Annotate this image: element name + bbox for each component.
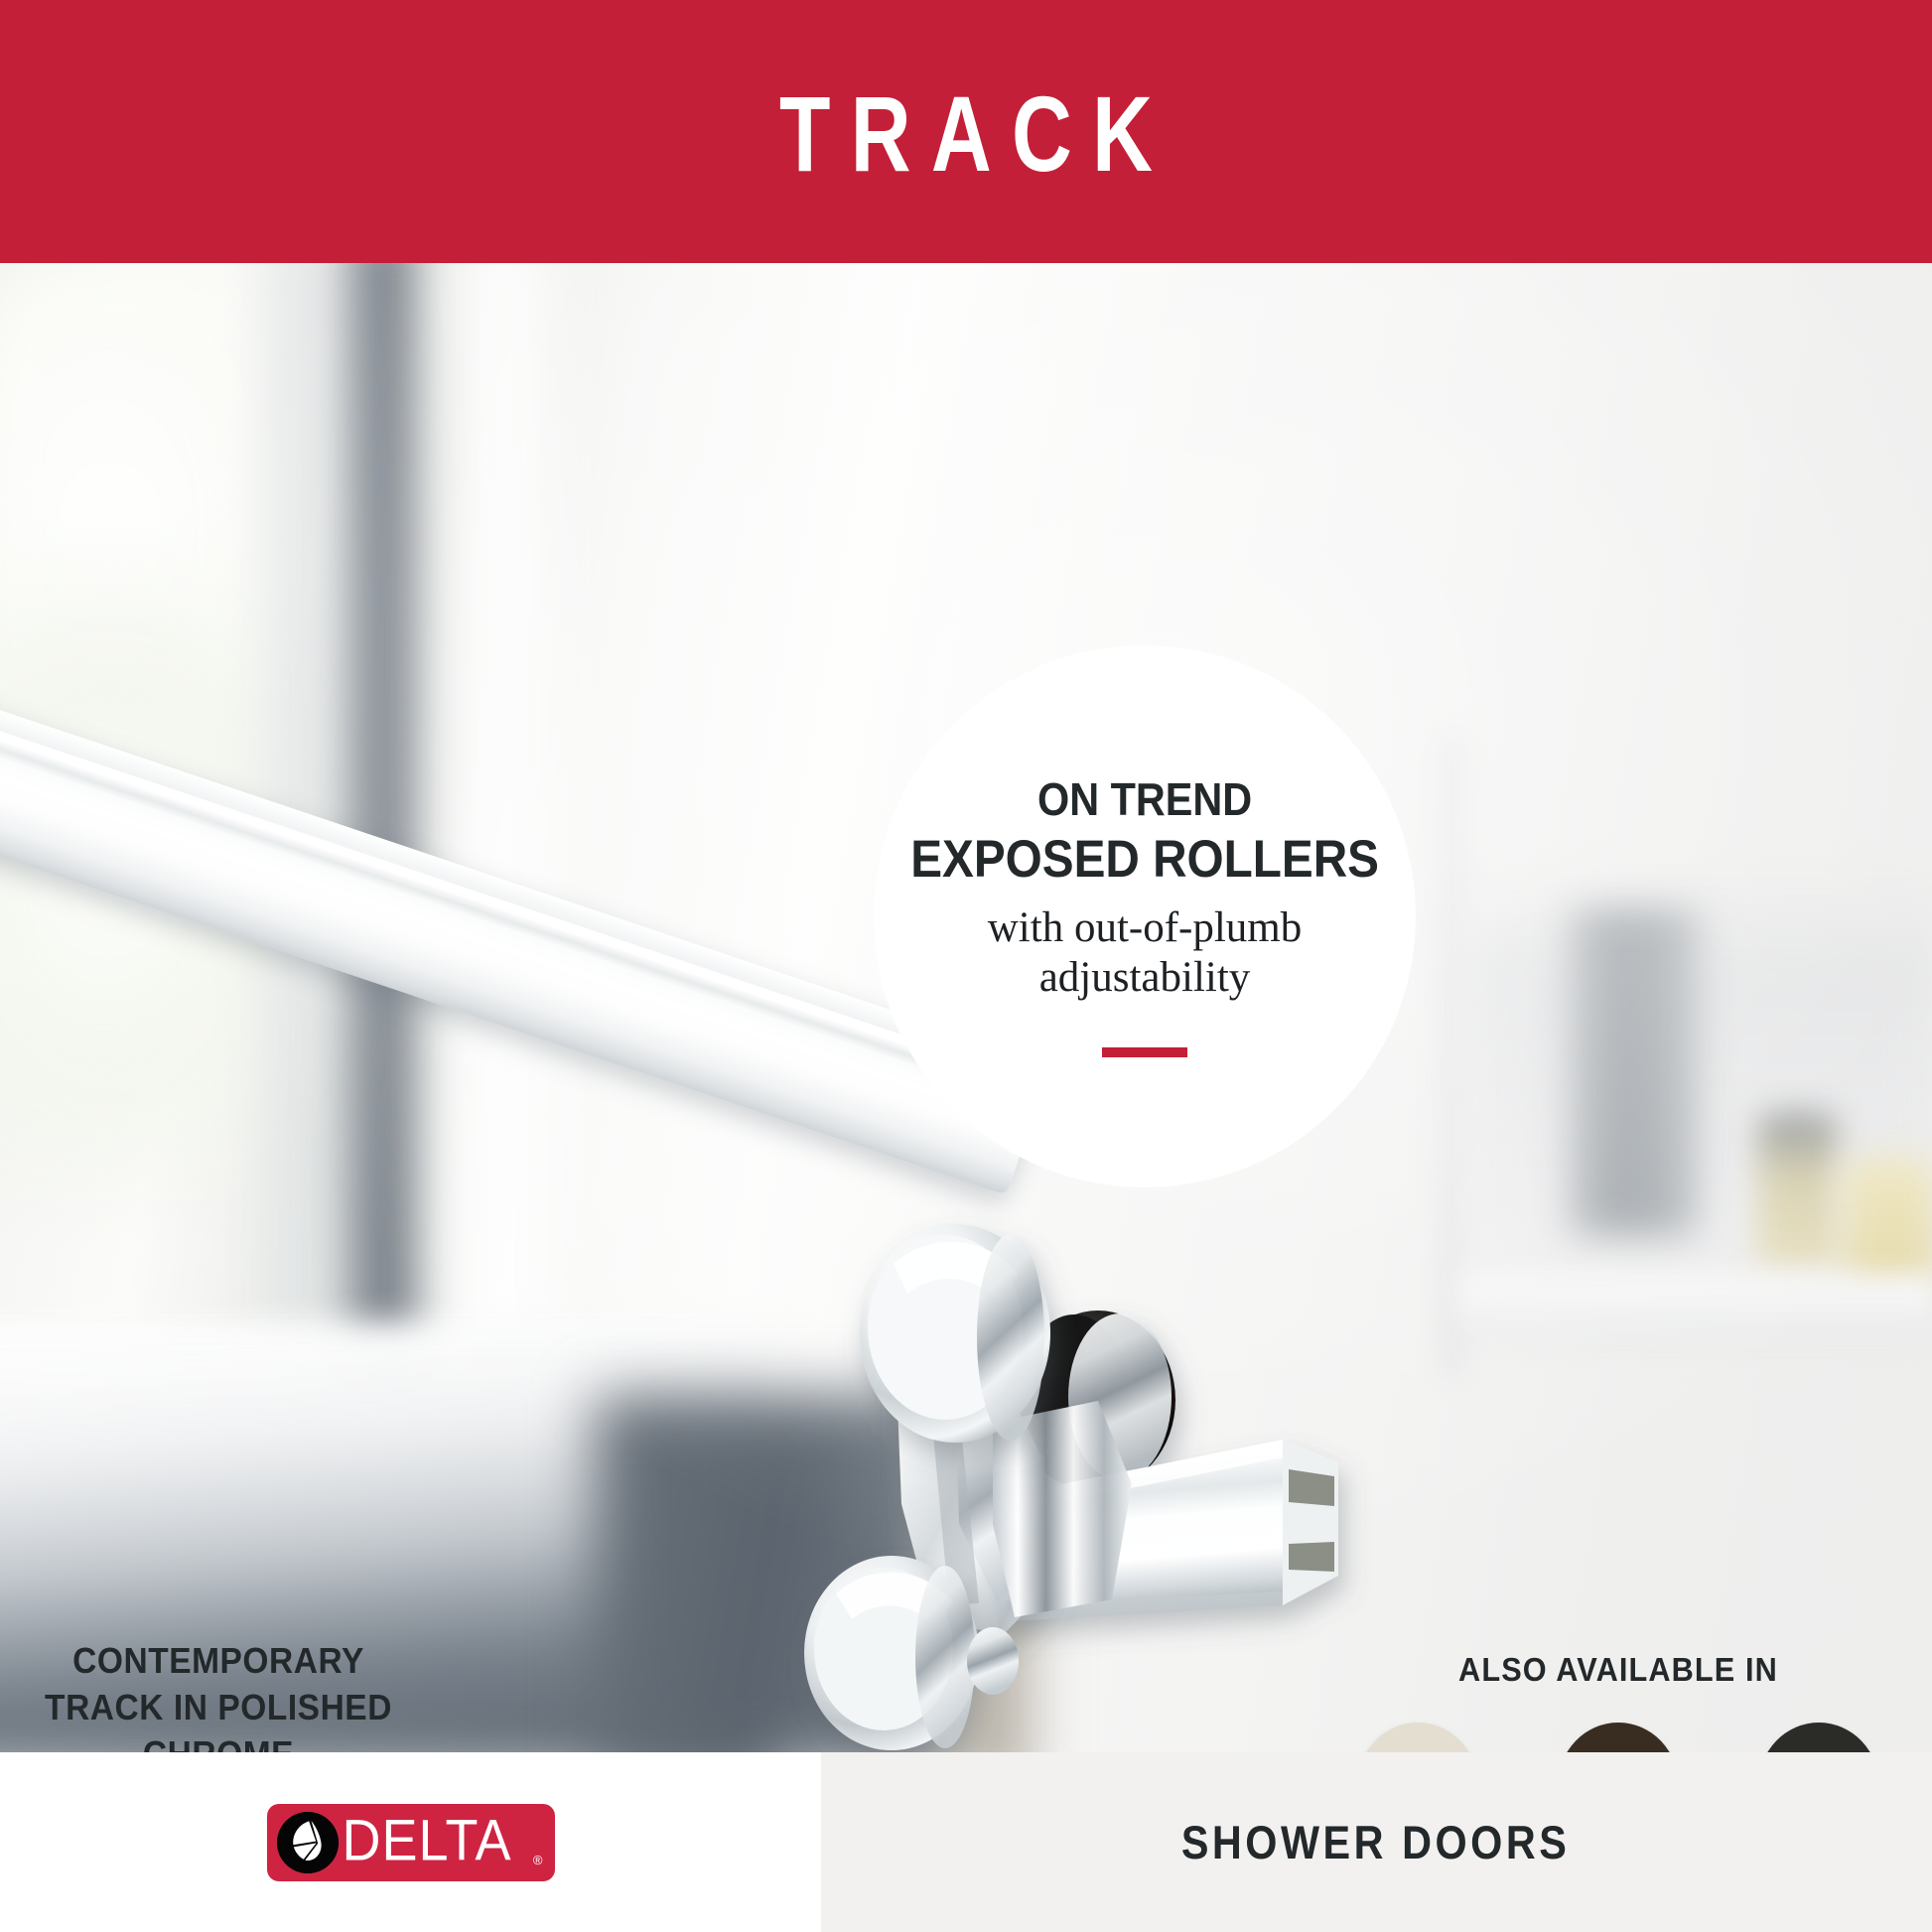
footer-category-area: SHOWER DOORS	[821, 1752, 1932, 1932]
finish-swatch-matte-black[interactable]	[1758, 1723, 1879, 1752]
product-photo: ON TREND EXPOSED ROLLERS with out-of-plu…	[0, 263, 1932, 1752]
product-card: TRACK	[0, 0, 1932, 1932]
footer: DELTA ® SHOWER DOORS	[0, 1752, 1932, 1932]
registered-trademark-icon: ®	[533, 1853, 543, 1867]
finish-swatch-row: BRUSHED NICKEL BRONZE MATTE BLACK	[1320, 1723, 1916, 1752]
feature-callout-circle: ON TREND EXPOSED ROLLERS with out-of-plu…	[874, 645, 1416, 1187]
finish-option[interactable]: MATTE BLACK	[1731, 1723, 1906, 1752]
finish-swatch-brushed-nickel[interactable]	[1357, 1723, 1478, 1752]
delta-logo[interactable]: DELTA ®	[267, 1804, 555, 1881]
footer-brand-area: DELTA ®	[0, 1752, 821, 1932]
callout-subtext-line1: with out-of-plumb	[988, 903, 1303, 954]
product-caption: CONTEMPORARY TRACK IN POLISHED CHROME	[34, 1638, 403, 1752]
header-banner: TRACK	[0, 0, 1932, 263]
finishes-title: ALSO AVAILABLE IN	[1341, 1651, 1895, 1689]
callout-subtext-line2: adjustability	[1039, 953, 1251, 1004]
finishes-section: ALSO AVAILABLE IN BRUSHED NICKEL BRONZE …	[1320, 1651, 1916, 1752]
page-title: TRACK	[212, 0, 1720, 263]
delta-droplet-icon	[277, 1812, 339, 1873]
finish-option[interactable]: BRONZE	[1531, 1723, 1706, 1752]
callout-accent-rule	[1102, 1047, 1187, 1057]
finish-option[interactable]: BRUSHED NICKEL	[1330, 1723, 1505, 1752]
delta-wordmark: DELTA	[343, 1811, 512, 1868]
callout-headline-line2: EXPOSED ROLLERS	[910, 832, 1379, 888]
footer-category-label: SHOWER DOORS	[1181, 1815, 1572, 1869]
finish-swatch-bronze[interactable]	[1558, 1723, 1679, 1752]
callout-headline-line1: ON TREND	[1037, 775, 1252, 824]
